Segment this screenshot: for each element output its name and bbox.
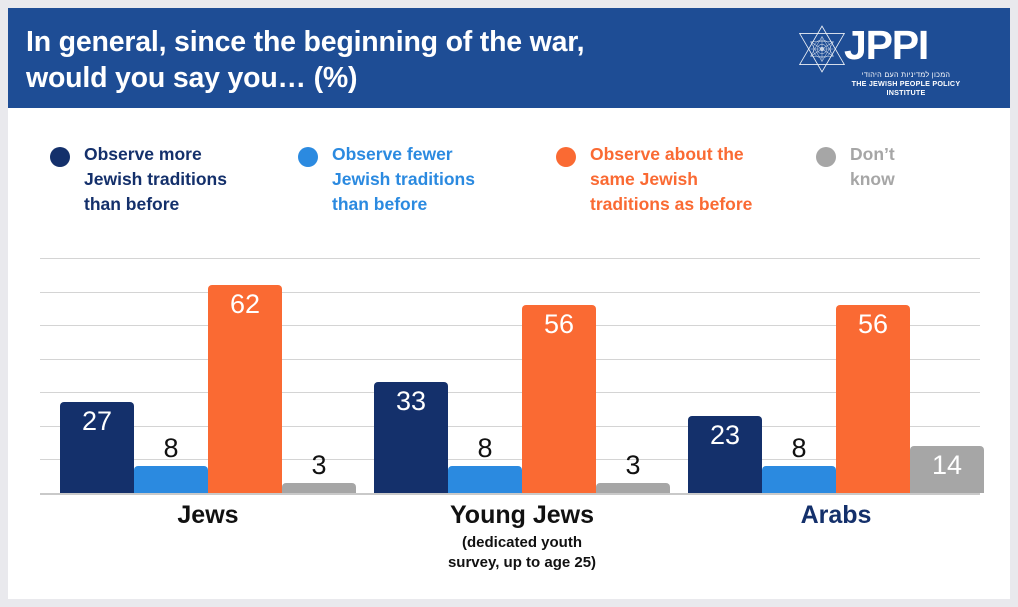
plot-area: 2733238886256563314 <box>40 248 980 494</box>
bar[interactable] <box>762 466 836 493</box>
bar-value-label: 56 <box>836 308 910 340</box>
bar-value-label: 3 <box>282 450 356 480</box>
bar[interactable] <box>596 483 670 493</box>
bar[interactable]: 62 <box>208 285 282 493</box>
category-sublabel-line: survey, up to age 25) <box>374 553 670 573</box>
bar[interactable]: 14 <box>910 446 984 493</box>
bar[interactable]: 56 <box>522 305 596 493</box>
bar-value-label: 56 <box>522 308 596 340</box>
category-sublabel-line: (dedicated youth <box>374 533 670 553</box>
x-axis-line <box>40 493 980 495</box>
bar[interactable]: 56 <box>836 305 910 493</box>
bar[interactable]: 27 <box>60 402 134 493</box>
bar-value-label: 8 <box>134 433 208 463</box>
category-label-young-jews: Young Jews(dedicated youthsurvey, up to … <box>374 500 670 573</box>
bar[interactable] <box>134 466 208 493</box>
bar-value-label: 27 <box>60 405 134 437</box>
category-sublabel: (dedicated youthsurvey, up to age 25) <box>374 533 670 573</box>
bar-value-label: 33 <box>374 385 448 417</box>
bar-value-label: 62 <box>208 288 282 320</box>
gridline <box>40 292 980 293</box>
bar-value-label: 8 <box>762 433 836 463</box>
category-name: Jews <box>60 500 356 530</box>
bar[interactable] <box>448 466 522 493</box>
bar-value-label: 23 <box>688 419 762 451</box>
category-label-arabs: Arabs <box>688 500 984 530</box>
slide: In general, since the beginning of the w… <box>8 8 1010 599</box>
bar[interactable]: 23 <box>688 416 762 493</box>
bar[interactable]: 33 <box>374 382 448 493</box>
bar-value-label: 14 <box>910 449 984 481</box>
bar[interactable] <box>282 483 356 493</box>
bar-value-label: 3 <box>596 450 670 480</box>
bar-value-label: 8 <box>448 433 522 463</box>
category-name: Arabs <box>688 500 984 530</box>
category-name: Young Jews <box>374 500 670 530</box>
bar-chart: 2733238886256563314 JewsYoung Jews(dedic… <box>8 8 1010 599</box>
category-label-jews: Jews <box>60 500 356 530</box>
gridline <box>40 258 980 259</box>
